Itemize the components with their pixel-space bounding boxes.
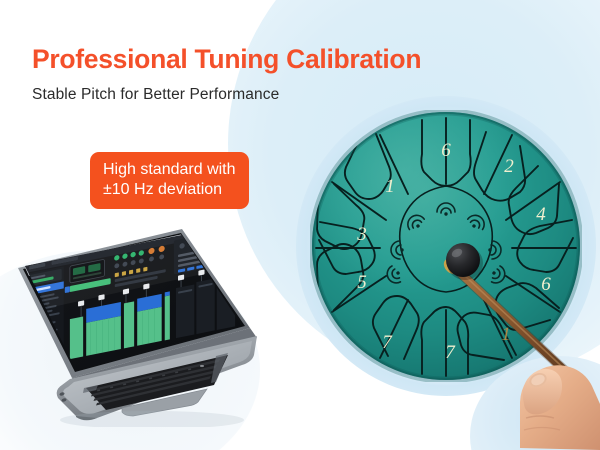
badge-line-1: High standard with (103, 160, 236, 180)
drum-tongue-label: 1 (385, 176, 395, 197)
hand-holding-mallet (480, 330, 600, 450)
page-subtitle: Stable Pitch for Better Performance (32, 86, 279, 104)
drum-tongue-label: 4 (536, 204, 546, 225)
drum-tongue-label: 7 (445, 342, 456, 363)
laptop-with-daw-software (2, 222, 260, 427)
promo-banner: Professional Tuning Calibration Stable P… (0, 0, 600, 450)
status-badge: High standard with ±10 Hz deviation (90, 152, 249, 209)
drum-tongue-label: 6 (441, 140, 451, 161)
drum-tongue-label: 2 (504, 156, 514, 177)
drum-tongue-label: 7 (382, 332, 393, 353)
drum-tongue-label: 6 (541, 274, 551, 295)
badge-line-2: ±10 Hz deviation (103, 180, 236, 200)
drum-tongue-label: 5 (357, 272, 367, 293)
drum-tongue-label: 3 (356, 224, 367, 245)
page-title: Professional Tuning Calibration (32, 44, 421, 75)
